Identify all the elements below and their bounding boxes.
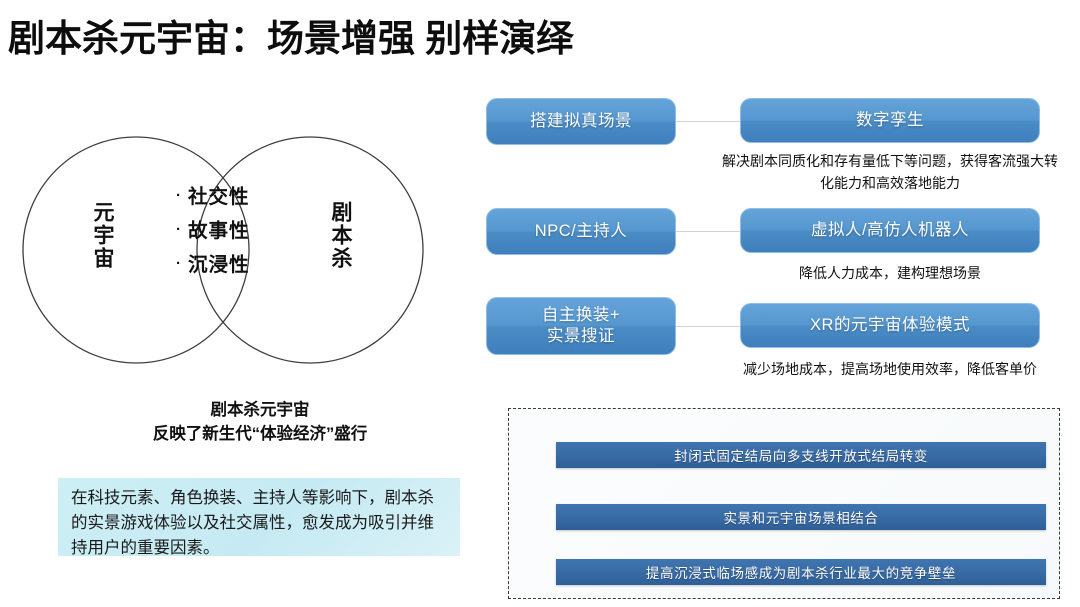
summary-callout-text: 在科技元素、角色换装、主持人等影响下，剧本杀的实景游戏体验以及社交属性，愈发成为… — [71, 486, 447, 561]
venn-intersection-list: ·社交性 ·故事性 ·沉浸性 — [176, 181, 306, 283]
bullet-dot-icon: · — [176, 221, 182, 238]
flow-driver-box-1[interactable]: 搭建拟真场景 — [486, 98, 676, 145]
flow-benefit-note-2: 降低人力成本，建构理想场景 — [722, 262, 1058, 284]
venn-label-right: 剧本杀 — [330, 201, 351, 270]
flow-driver-box-3[interactable]: 自主换装+ 实景搜证 — [486, 297, 676, 355]
venn-caption-line-2: 反映了新生代“体验经济”盛行 — [60, 422, 460, 446]
slide-canvas: 剧本杀元宇宙：场景增强 别样演绎 元宇宙 剧本杀 ·社交性 ·故事性 ·沉浸性 … — [0, 0, 1080, 607]
list-item-label: 沉浸性 — [188, 254, 250, 276]
outcomes-panel: 封闭式固定结局向多支线开放式结局转变 实景和元宇宙场景相结合 提高沉浸式临场感成… — [508, 408, 1060, 599]
list-item: ·社交性 — [176, 181, 306, 215]
flow-technology-box-1[interactable]: 数字孪生 — [740, 98, 1040, 143]
outcome-bar-3[interactable]: 提高沉浸式临场感成为剧本杀行业最大的竞争壁垒 — [556, 559, 1046, 585]
venn-diagram: 元宇宙 剧本杀 ·社交性 ·故事性 ·沉浸性 — [0, 118, 470, 388]
flow-technology-box-2[interactable]: 虚拟人/高仿人机器人 — [740, 208, 1040, 253]
flow-benefit-note-1: 解决剧本同质化和存有量低下等问题，获得客流强大转化能力和高效落地能力 — [722, 150, 1058, 194]
list-item-label: 故事性 — [188, 220, 250, 242]
flow-connector-3 — [676, 326, 740, 327]
list-item: ·沉浸性 — [176, 249, 306, 283]
flow-driver-box-3-line-1: 自主换装+ — [542, 305, 620, 326]
flow-technology-box-3[interactable]: XR的元宇宙体验模式 — [740, 303, 1040, 348]
flow-driver-box-2[interactable]: NPC/主持人 — [486, 208, 676, 255]
venn-label-left: 元宇宙 — [92, 201, 113, 270]
flow-connector-2 — [676, 231, 740, 232]
bullet-dot-icon: · — [176, 187, 182, 204]
page-title: 剧本杀元宇宙：场景增强 别样演绎 — [8, 8, 573, 62]
outcome-bar-2[interactable]: 实景和元宇宙场景相结合 — [556, 504, 1046, 530]
summary-callout-box: 在科技元素、角色换装、主持人等影响下，剧本杀的实景游戏体验以及社交属性，愈发成为… — [58, 478, 460, 556]
list-item: ·故事性 — [176, 215, 306, 249]
flow-driver-box-3-line-2: 实景搜证 — [542, 326, 620, 347]
bullet-dot-icon: · — [176, 255, 182, 272]
flow-connector-1 — [676, 121, 740, 122]
venn-caption-line-1: 剧本杀元宇宙 — [60, 398, 460, 422]
venn-caption: 剧本杀元宇宙 反映了新生代“体验经济”盛行 — [60, 398, 460, 446]
list-item-label: 社交性 — [188, 186, 250, 208]
outcome-bar-1[interactable]: 封闭式固定结局向多支线开放式结局转变 — [556, 442, 1046, 468]
flow-benefit-note-3: 减少场地成本，提高场地使用效率，降低客单价 — [722, 358, 1058, 380]
